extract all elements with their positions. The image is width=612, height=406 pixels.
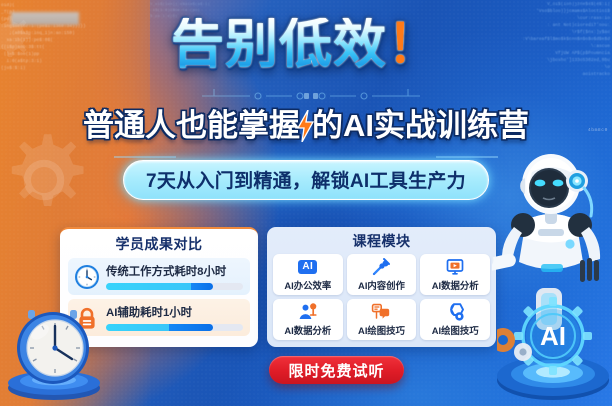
comparison-card-title: 学员成果对比 — [68, 234, 250, 254]
modules-grid: AI AI办公效率 AI内容创作 — [273, 254, 490, 340]
comparison-row-traditional: 传统工作方式耗时8小时 — [68, 258, 250, 295]
ai-ring-label: AI — [540, 321, 566, 351]
module-item-ai-draw-2[interactable]: AI绘图技巧 — [420, 299, 490, 340]
progress-fill-blue — [169, 324, 213, 331]
comparison-row-body: AI辅助耗时1小时 — [106, 304, 243, 331]
ai-badge-text: AI — [298, 260, 317, 275]
module-label: AI内容创作 — [348, 278, 416, 292]
person-pin-icon — [274, 302, 342, 322]
module-item-ai-office[interactable]: AI AI办公效率 — [273, 254, 343, 295]
speech-bubble-icon — [348, 302, 416, 322]
microphone-pen-icon — [348, 257, 416, 277]
progress-bar-traditional — [106, 283, 243, 290]
module-item-ai-content[interactable]: AI内容创作 — [347, 254, 417, 295]
clock-icon — [74, 264, 100, 290]
module-label: AI数据分析 — [274, 323, 342, 337]
cta-button[interactable]: 限时免费试听 — [269, 356, 404, 384]
alarm-clock-3d — [4, 296, 112, 402]
lightning-bolt-icon — [297, 110, 314, 142]
module-item-ai-data-2[interactable]: AI数据分析 — [273, 299, 343, 340]
modules-card-title: 课程模块 — [273, 231, 490, 251]
cards-row: 学员成果对比 — [60, 227, 496, 347]
ai-gear-ring: AI — [497, 288, 612, 406]
module-label: AI办公效率 — [274, 278, 342, 292]
module-item-ai-draw-1[interactable]: AI绘图技巧 — [347, 299, 417, 340]
subtitle-part-1: 普通人也能掌握 — [83, 100, 300, 145]
comparison-label-traditional: 传统工作方式耗时8小时 — [106, 263, 243, 279]
tagline-pill: 7天从入门到精通，解锁AI工具生产力 — [123, 160, 489, 200]
monitor-play-icon — [421, 257, 489, 277]
page-title-exclamation: ！ — [387, 15, 441, 74]
poster-canvas: oid)( _T(p) (po)| :ing$aetbz:i:(pe$i:136… — [0, 0, 612, 406]
module-item-ai-data-1[interactable]: AI数据分析 — [420, 254, 490, 295]
page-title: 告别低效！ — [0, 18, 612, 71]
module-label: AI数据分析 — [421, 278, 489, 292]
ai-badge-icon: AI — [274, 257, 342, 277]
module-label: AI绘图技巧 — [348, 323, 416, 337]
modules-card: 课程模块 AI AI办公效率 — [267, 227, 496, 347]
progress-fill-blue — [191, 283, 213, 290]
module-label: AI绘图技巧 — [421, 323, 489, 337]
progress-fill-cyan — [106, 324, 169, 331]
comparison-row-body: 传统工作方式耗时8小时 — [106, 263, 243, 290]
page-title-text: 告别低效 — [171, 15, 387, 74]
comparison-label-ai: AI辅助耗时1小时 — [106, 304, 243, 320]
progress-fill-cyan — [106, 283, 191, 290]
hexagon-gear-icon — [421, 302, 489, 322]
progress-bar-ai — [106, 324, 243, 331]
